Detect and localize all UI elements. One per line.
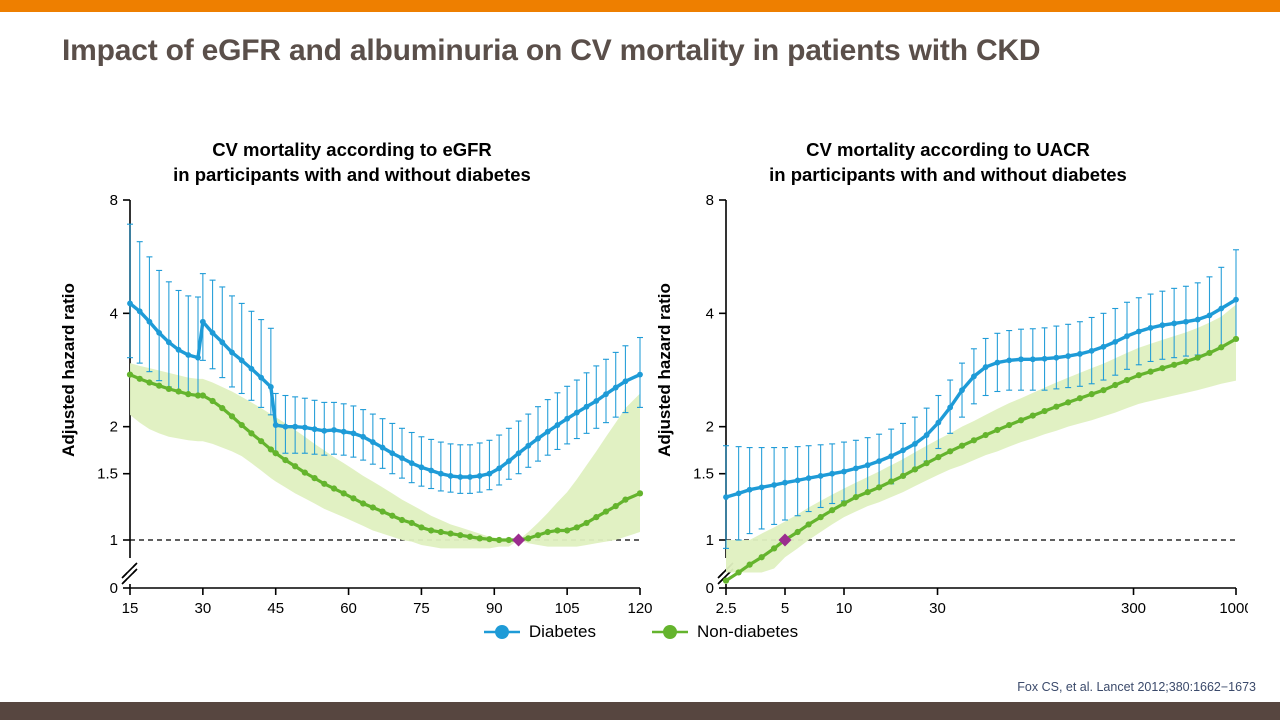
legend-item-diabetes: Diabetes bbox=[482, 622, 596, 642]
svg-text:0: 0 bbox=[110, 580, 118, 597]
bottom-accent-bar bbox=[0, 702, 1280, 720]
svg-text:105: 105 bbox=[555, 600, 580, 617]
plot-svg-egfr: 8421.510153045607590105120eGFR (mL/min p… bbox=[52, 188, 652, 618]
legend-marker-diabetes-icon bbox=[482, 623, 522, 641]
chart-legend: Diabetes Non-diabetes bbox=[0, 622, 1280, 642]
svg-text:30: 30 bbox=[195, 600, 212, 617]
svg-text:15: 15 bbox=[122, 600, 139, 617]
chart-title-egfr: CV mortality according to eGFR in partic… bbox=[52, 138, 652, 188]
svg-text:8: 8 bbox=[706, 192, 714, 209]
svg-text:5: 5 bbox=[781, 600, 789, 617]
svg-text:75: 75 bbox=[413, 600, 430, 617]
svg-text:Adjusted hazard ratio: Adjusted hazard ratio bbox=[59, 283, 78, 457]
page-title: Impact of eGFR and albuminuria on CV mor… bbox=[62, 32, 1182, 70]
legend-item-non-diabetes: Non-diabetes bbox=[650, 622, 798, 642]
legend-marker-non-diabetes-icon bbox=[650, 623, 690, 641]
chart-panel-uacr: CV mortality according to UACR in partic… bbox=[648, 135, 1248, 615]
svg-text:30: 30 bbox=[929, 600, 946, 617]
svg-text:1.5: 1.5 bbox=[693, 466, 714, 483]
svg-text:60: 60 bbox=[340, 600, 357, 617]
chart-title-uacr: CV mortality according to UACR in partic… bbox=[648, 138, 1248, 188]
plot-area-egfr: 8421.510153045607590105120eGFR (mL/min p… bbox=[52, 188, 652, 618]
legend-label-non-diabetes: Non-diabetes bbox=[697, 622, 798, 642]
svg-text:Adjusted hazard ratio: Adjusted hazard ratio bbox=[655, 283, 674, 457]
citation-text: Fox CS, et al. Lancet 2012;380:1662−1673 bbox=[1017, 680, 1256, 694]
svg-text:10: 10 bbox=[836, 600, 853, 617]
chart-panel-egfr: CV mortality according to eGFR in partic… bbox=[52, 135, 652, 615]
svg-text:2.5: 2.5 bbox=[716, 600, 737, 617]
svg-text:1: 1 bbox=[706, 532, 714, 549]
svg-text:8: 8 bbox=[110, 192, 118, 209]
svg-text:4: 4 bbox=[706, 305, 714, 322]
svg-text:2: 2 bbox=[706, 419, 714, 436]
top-accent-bar bbox=[0, 0, 1280, 12]
svg-text:1: 1 bbox=[110, 532, 118, 549]
slide-root: Impact of eGFR and albuminuria on CV mor… bbox=[0, 0, 1280, 720]
legend-label-diabetes: Diabetes bbox=[529, 622, 596, 642]
plot-area-uacr: 8421.5102.5510303001000UACR (mg/g)Adjust… bbox=[648, 188, 1248, 618]
svg-text:45: 45 bbox=[267, 600, 284, 617]
plot-svg-uacr: 8421.5102.5510303001000UACR (mg/g)Adjust… bbox=[648, 188, 1248, 618]
svg-text:0: 0 bbox=[706, 580, 714, 597]
svg-text:300: 300 bbox=[1121, 600, 1146, 617]
svg-text:90: 90 bbox=[486, 600, 503, 617]
svg-text:1000: 1000 bbox=[1219, 600, 1248, 617]
svg-text:1.5: 1.5 bbox=[97, 466, 118, 483]
svg-text:4: 4 bbox=[110, 305, 118, 322]
svg-text:2: 2 bbox=[110, 419, 118, 436]
